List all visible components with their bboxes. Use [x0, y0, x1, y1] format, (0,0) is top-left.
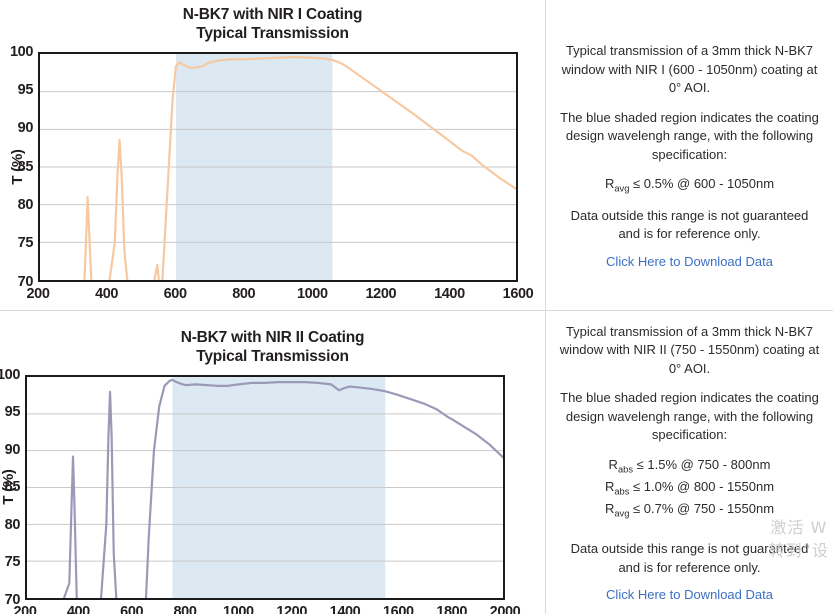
- nir-i-spec-line: Ravg ≤ 0.5% @ 600 - 1050nm: [605, 175, 774, 196]
- nir-ii-chart-cell: N-BK7 with NIR II Coating Typical Transm…: [0, 311, 545, 614]
- y-tick-label: 95: [5, 404, 20, 420]
- nir-i-plot-wrapper: T (%) 707580859095100 200400600800100012…: [38, 52, 518, 282]
- spec-line: Rabs ≤ 1.5% @ 750 - 800nm: [605, 455, 774, 477]
- spec-symbol: R: [605, 479, 614, 494]
- y-tick-label: 75: [5, 554, 20, 570]
- nir-ii-spec-list: Rabs ≤ 1.5% @ 750 - 800nmRabs ≤ 1.0% @ 8…: [605, 455, 774, 520]
- x-tick-label: 1000: [223, 604, 254, 614]
- x-tick-label: 200: [14, 604, 37, 614]
- nir-i-description-panel: Typical transmission of a 3mm thick N-BK…: [545, 0, 833, 311]
- nir-i-paragraph-2: The blue shaded region indicates the coa…: [559, 109, 821, 164]
- x-tick-label: 600: [164, 286, 187, 302]
- spec-subscript: abs: [618, 465, 633, 475]
- spec-subscript: avg: [614, 184, 629, 194]
- nir-ii-description-panel: Typical transmission of a 3mm thick N-BK…: [545, 311, 833, 614]
- spec-line: Ravg ≤ 0.7% @ 750 - 1550nm: [605, 499, 774, 521]
- nir-ii-disclaimer: Data outside this range is not guarantee…: [559, 540, 821, 577]
- x-tick-label: 1400: [330, 604, 361, 614]
- nir-i-plot-svg: [40, 54, 516, 280]
- spec-value: ≤ 1.5% @ 750 - 800nm: [633, 457, 770, 472]
- nir-ii-plot-area: [25, 375, 505, 600]
- spec-line: Rabs ≤ 1.0% @ 800 - 1550nm: [605, 477, 774, 499]
- spec-value: ≤ 1.0% @ 800 - 1550nm: [629, 479, 774, 494]
- y-tick-label: 80: [5, 517, 20, 533]
- nir-i-chart-cell: N-BK7 with NIR I Coating Typical Transmi…: [0, 0, 545, 311]
- page-root: N-BK7 with NIR I Coating Typical Transmi…: [0, 0, 833, 614]
- x-tick-label: 1600: [383, 604, 414, 614]
- nir-ii-plot-svg: [27, 377, 503, 598]
- y-tick-label: 100: [10, 44, 33, 60]
- nir-i-paragraph-1: Typical transmission of a 3mm thick N-BK…: [559, 42, 821, 97]
- nir-i-disclaimer: Data outside this range is not guarantee…: [559, 207, 821, 244]
- y-tick-label: 80: [18, 197, 33, 213]
- x-tick-label: 1400: [434, 286, 465, 302]
- x-tick-label: 400: [67, 604, 90, 614]
- nir-ii-row: N-BK7 with NIR II Coating Typical Transm…: [0, 311, 833, 614]
- y-tick-label: 75: [18, 235, 33, 251]
- spec-symbol: R: [605, 501, 614, 516]
- chart-title-line-1: N-BK7 with NIR I Coating: [0, 6, 545, 25]
- x-tick-label: 400: [95, 286, 118, 302]
- nir-ii-paragraph-1: Typical transmission of a 3mm thick N-BK…: [559, 323, 821, 378]
- y-tick-label: 100: [0, 367, 20, 383]
- spec-subscript: abs: [614, 487, 629, 497]
- chart-title-nir-i: N-BK7 with NIR I Coating Typical Transmi…: [0, 6, 545, 44]
- x-tick-label: 200: [27, 286, 50, 302]
- x-tick-label: 800: [173, 604, 196, 614]
- download-data-link-nir-ii[interactable]: Click Here to Download Data: [606, 587, 773, 602]
- x-tick-label: 2000: [490, 604, 521, 614]
- y-tick-label: 90: [18, 120, 33, 136]
- nir-ii-plot-wrapper: T (%) 707580859095100 200400600800100012…: [25, 375, 505, 600]
- x-tick-label: 1600: [503, 286, 534, 302]
- spec-value: ≤ 0.5% @ 600 - 1050nm: [629, 176, 774, 191]
- nir-i-plot-area: [38, 52, 518, 282]
- download-data-link-nir-i[interactable]: Click Here to Download Data: [606, 254, 773, 269]
- x-tick-label: 1800: [436, 604, 467, 614]
- x-tick-label: 800: [232, 286, 255, 302]
- chart-title-line-1: N-BK7 with NIR II Coating: [0, 329, 545, 348]
- spec-subscript: avg: [614, 508, 629, 518]
- y-tick-label: 85: [5, 479, 20, 495]
- spec-symbol: R: [605, 176, 614, 191]
- nir-ii-paragraph-2: The blue shaded region indicates the coa…: [559, 389, 821, 444]
- x-tick-label: 1000: [297, 286, 328, 302]
- x-tick-label: 1200: [276, 604, 307, 614]
- y-tick-label: 90: [5, 442, 20, 458]
- nir-i-row: N-BK7 with NIR I Coating Typical Transmi…: [0, 0, 833, 311]
- chart-title-nir-ii: N-BK7 with NIR II Coating Typical Transm…: [0, 329, 545, 367]
- y-tick-label: 85: [18, 159, 33, 175]
- x-tick-label: 600: [120, 604, 143, 614]
- spec-value: ≤ 0.7% @ 750 - 1550nm: [629, 501, 774, 516]
- chart-title-line-2: Typical Transmission: [0, 348, 545, 367]
- x-tick-label: 1200: [366, 286, 397, 302]
- y-tick-label: 95: [18, 82, 33, 98]
- chart-title-line-2: Typical Transmission: [0, 25, 545, 44]
- spec-symbol: R: [609, 457, 618, 472]
